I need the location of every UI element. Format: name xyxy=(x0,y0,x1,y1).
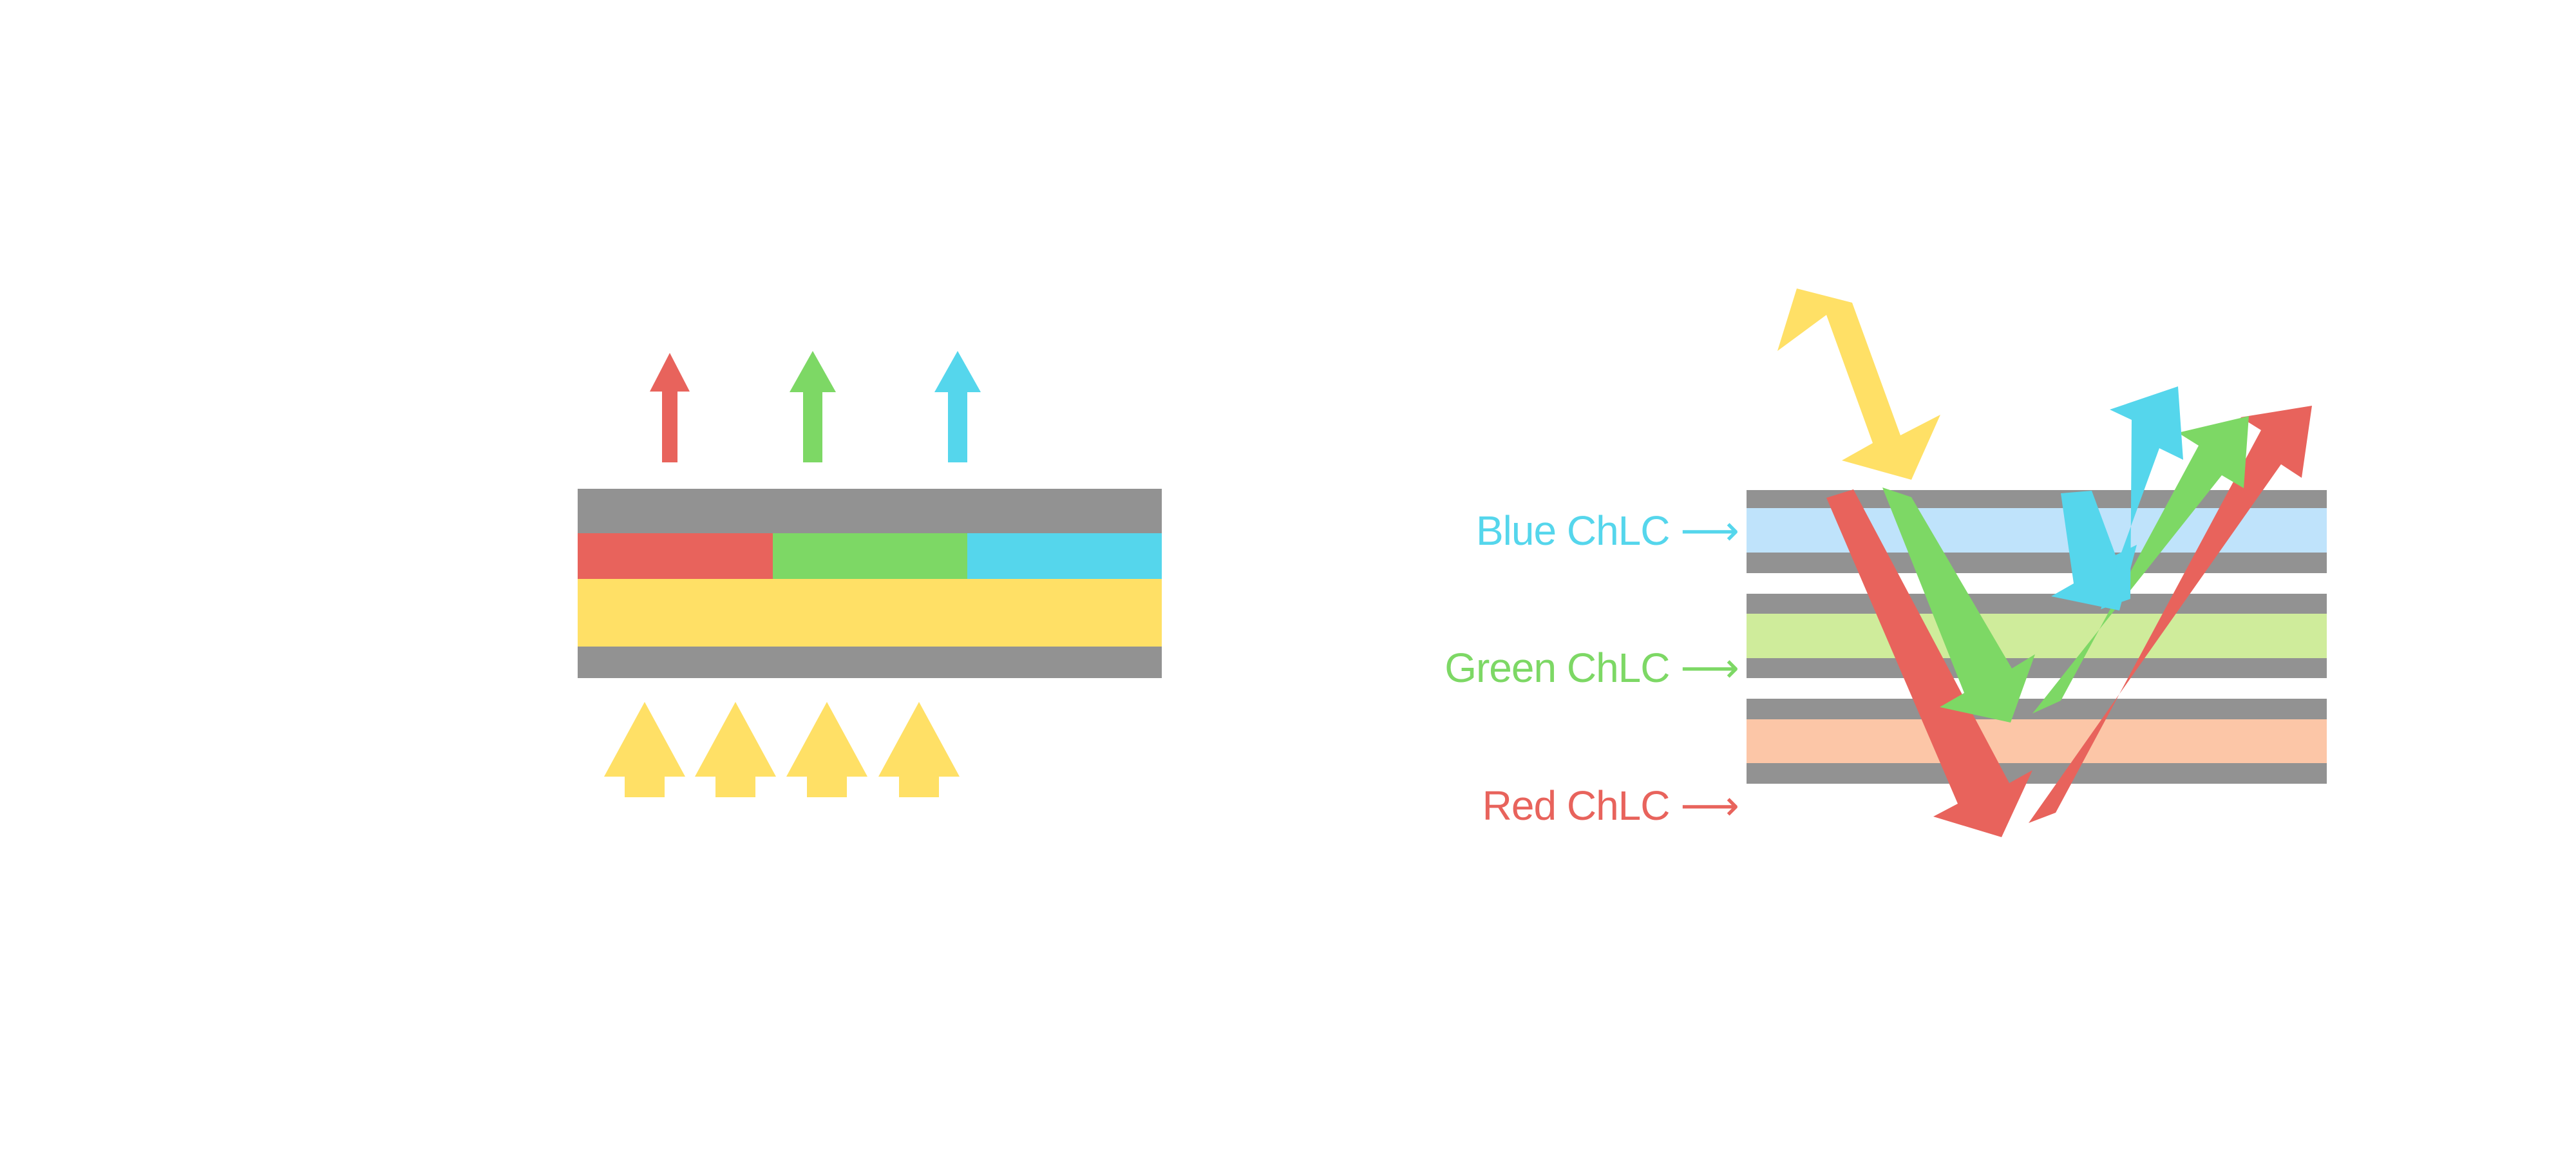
backlight-arrow-4 xyxy=(878,702,960,797)
green-top-electrode xyxy=(1747,594,2327,614)
red-chlc-layer xyxy=(1747,719,2327,763)
green-emitted-arrow xyxy=(790,351,836,462)
blue-emitted-arrow xyxy=(934,351,981,462)
left-backlight-arrows xyxy=(604,702,960,797)
green-bottom-electrode xyxy=(1747,658,2327,678)
left-backlight-layer xyxy=(578,579,1162,647)
diagram-canvas: Blue ChLC ⟶ Green ChLC ⟶ Red ChLC ⟶ xyxy=(0,0,2576,1154)
red-emitted-arrow xyxy=(650,353,690,462)
left-stack xyxy=(578,489,1162,678)
blue-chlc-label: Blue ChLC ⟶ xyxy=(1476,507,1739,554)
left-top-electrode xyxy=(578,489,1162,533)
green-chlc-label: Green ChLC ⟶ xyxy=(1444,645,1739,691)
blue-bottom-electrode xyxy=(1747,553,2327,573)
left-blue-filter xyxy=(967,533,1162,579)
right-labels: Blue ChLC ⟶ Green ChLC ⟶ Red ChLC ⟶ xyxy=(1444,507,1739,829)
left-emitted-arrows xyxy=(650,351,981,462)
right-stack xyxy=(1747,490,2327,784)
figure-root: Blue ChLC ⟶ Green ChLC ⟶ Red ChLC ⟶ xyxy=(0,0,2576,1154)
green-chlc-layer xyxy=(1747,614,2327,658)
red-chlc-label: Red ChLC ⟶ xyxy=(1482,782,1739,829)
red-bottom-electrode xyxy=(1747,763,2327,784)
ambient-light-arrow-shape xyxy=(1777,288,1940,480)
ambient-light-arrow xyxy=(1777,288,1940,480)
backlight-arrow-3 xyxy=(786,702,867,797)
left-red-filter xyxy=(578,533,773,579)
left-green-filter xyxy=(773,533,967,579)
backlight-arrow-1 xyxy=(604,702,685,797)
left-bottom-electrode xyxy=(578,647,1162,678)
backlight-arrow-2 xyxy=(695,702,776,797)
